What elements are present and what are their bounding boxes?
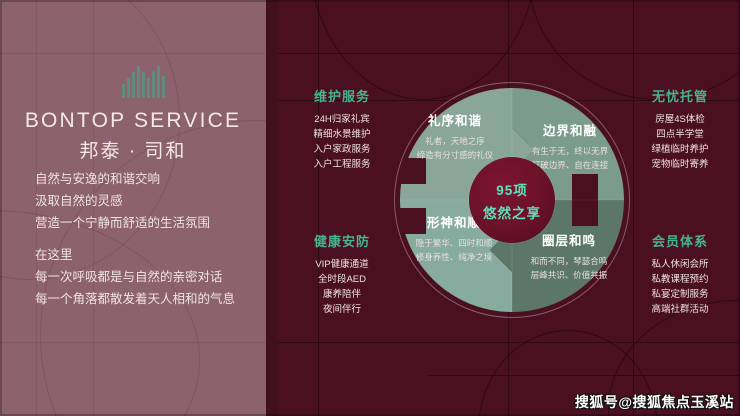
service-item: 私宴定制服务 bbox=[630, 287, 730, 302]
service-item: 私人休闲会所 bbox=[630, 257, 730, 272]
service-item: 私教课程预约 bbox=[630, 272, 730, 287]
center-label: 悠然之享 bbox=[483, 202, 541, 222]
slide-canvas: BONTOP SERVICE 邦泰 · 司和 自然与安逸的和谐交响 汲取自然的灵… bbox=[0, 0, 740, 416]
service-title: 健康安防 bbox=[292, 231, 392, 250]
tagline-line: 在这里 bbox=[35, 244, 260, 266]
service-title: 维护服务 bbox=[292, 86, 392, 105]
service-item: 绿植临时养护 bbox=[630, 142, 730, 157]
quadrant-line: 和而不同，琴瑟合鸣 bbox=[502, 254, 636, 268]
service-item: 宠物临时寄养 bbox=[630, 157, 730, 172]
service-block-trusteeship: 无忧托管 房屋4S体检 四点半学堂 绿植临时养护 宠物临时寄养 bbox=[630, 86, 730, 172]
quadrant-line: 修身养性、纯净之境 bbox=[388, 250, 520, 264]
service-block-maintenance: 维护服务 24H归家礼宾 精细水景维护 入户家政服务 入户工程服务 bbox=[292, 86, 392, 172]
center-count: 95项 bbox=[496, 179, 528, 199]
tagline-line: 营造一个宁静而舒适的生活氛围 bbox=[35, 212, 260, 234]
quadrant-title: 礼序和谐 bbox=[390, 110, 520, 129]
service-item: VIP健康通道 bbox=[292, 257, 392, 272]
brand-tagline-block: 自然与安逸的和谐交响 汲取自然的灵感 营造一个宁静而舒适的生活氛围 在这里 每一… bbox=[35, 168, 260, 310]
service-block-health: 健康安防 VIP健康通道 全时段AED 康养陪伴 夜间伴行 bbox=[292, 231, 392, 317]
tagline-line: 自然与安逸的和谐交响 bbox=[35, 168, 260, 190]
quadrant-title: 边界和融 bbox=[504, 120, 636, 139]
decorative-bars-motif bbox=[122, 66, 165, 98]
brand-title-chinese: 邦泰 · 司和 bbox=[0, 136, 266, 163]
quadrant-line: 有生于无，终以无界 bbox=[504, 144, 636, 158]
quadrant-top-left: 礼序和谐 礼者，天地之序 缔造有分寸感的礼仪 bbox=[390, 110, 520, 162]
brand-title-english: BONTOP SERVICE bbox=[0, 108, 266, 134]
service-item: 精细水景维护 bbox=[292, 127, 392, 142]
service-block-membership: 会员体系 私人休闲会所 私教课程预约 私宴定制服务 高端社群活动 bbox=[630, 231, 730, 317]
tagline-line: 每一个角落都散发着天人相和的气息 bbox=[35, 288, 260, 310]
service-item: 高端社群活动 bbox=[630, 302, 730, 317]
tagline-line: 每一次呼吸都是与自然的亲密对话 bbox=[35, 266, 260, 288]
panel-divider bbox=[266, 0, 278, 416]
quadrant-line: 礼者，天地之序 bbox=[390, 134, 520, 148]
service-item: 24H归家礼宾 bbox=[292, 112, 392, 127]
tagline-spacer bbox=[35, 234, 260, 244]
service-item: 康养陪伴 bbox=[292, 287, 392, 302]
pinwheel-diagram: 礼序和谐 礼者，天地之序 缔造有分寸感的礼仪 边界和融 有生于无，终以无界 打破… bbox=[394, 82, 630, 318]
diagram-center-circle: 95项 悠然之享 bbox=[469, 157, 555, 243]
service-item: 入户工程服务 bbox=[292, 157, 392, 172]
brand-title-block: BONTOP SERVICE 邦泰 · 司和 bbox=[0, 108, 266, 163]
service-item: 夜间伴行 bbox=[292, 302, 392, 317]
quadrant-line: 层峰共识、价值共振 bbox=[502, 268, 636, 282]
tagline-line: 汲取自然的灵感 bbox=[35, 190, 260, 212]
service-item: 入户家政服务 bbox=[292, 142, 392, 157]
service-item: 房屋4S体检 bbox=[630, 112, 730, 127]
service-item: 全时段AED bbox=[292, 272, 392, 287]
service-title: 会员体系 bbox=[630, 231, 730, 250]
watermark: 搜狐号@搜狐焦点玉溪站 bbox=[575, 392, 734, 412]
service-item: 四点半学堂 bbox=[630, 127, 730, 142]
service-title: 无忧托管 bbox=[630, 86, 730, 105]
